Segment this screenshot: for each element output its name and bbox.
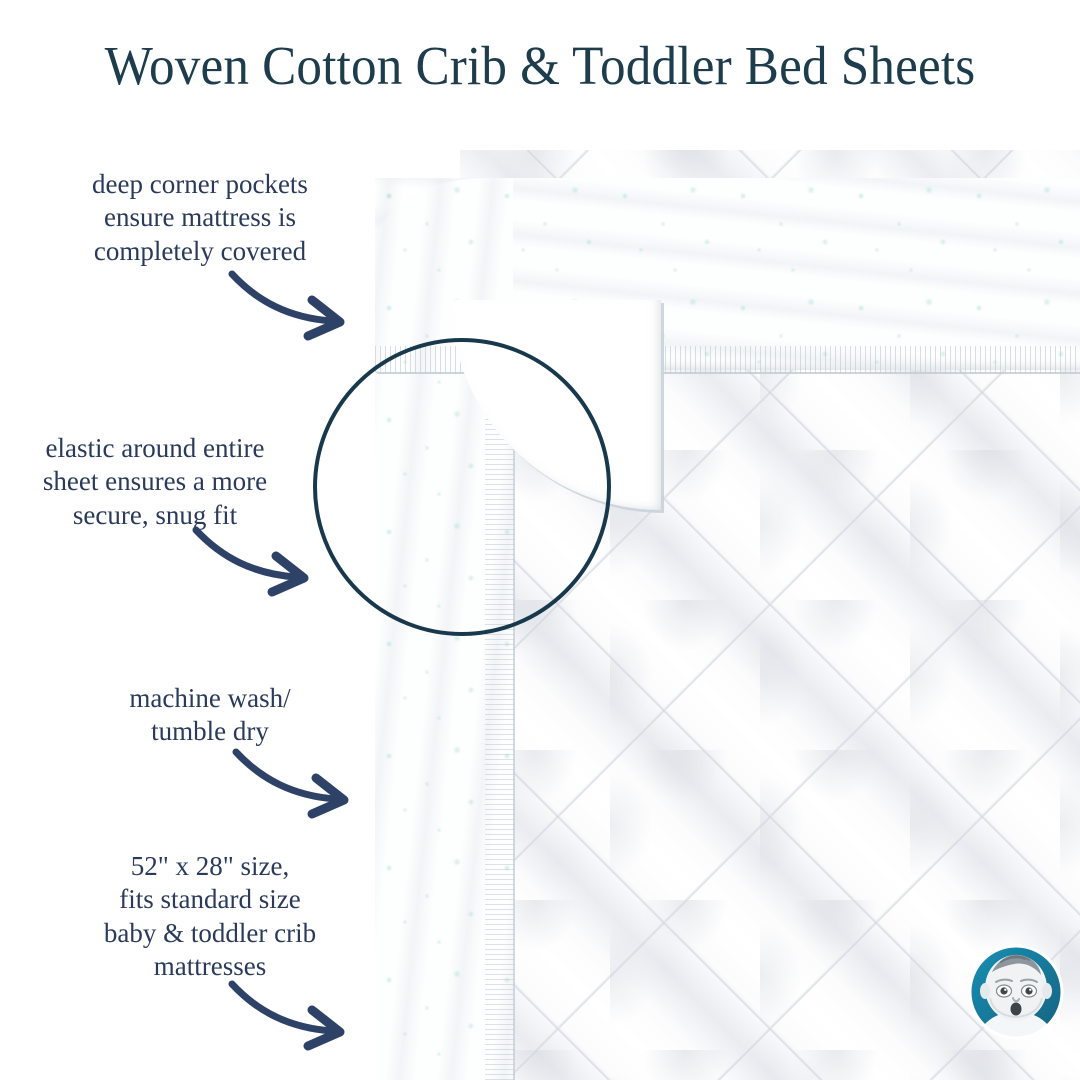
callout-elastic-around-sheet: elastic around entire sheet ensures a mo… [5,432,305,532]
product-photo [355,150,1080,1080]
callout-machine-wash: machine wash/ tumble dry [80,682,340,749]
curved-arrow-icon-1 [228,268,358,340]
baby-face-logo-icon [968,944,1064,1040]
elastic-hem-side [485,346,515,1080]
page-title: Woven Cotton Crib & Toddler Bed Sheets [38,34,1042,97]
callout-deep-corner-pockets: deep corner pockets ensure mattress is c… [40,168,360,268]
callout-size-fit: 52" x 28" size, fits standard size baby … [70,850,350,984]
curved-arrow-icon-4 [228,978,358,1050]
infographic-root: Woven Cotton Crib & Toddler Bed Sheets d… [0,0,1080,1080]
curved-arrow-icon-3 [232,746,362,818]
curved-arrow-icon-2 [192,524,322,596]
